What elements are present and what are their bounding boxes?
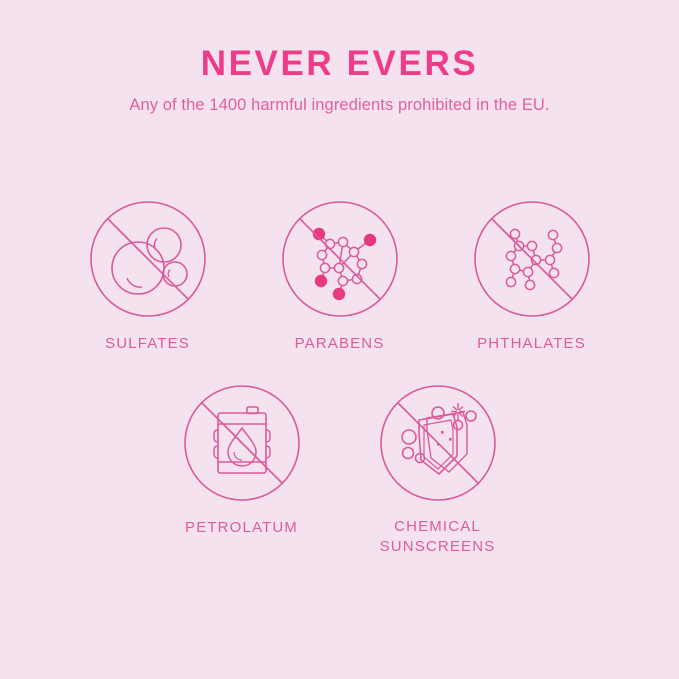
badge-label: PETROLATUM — [185, 518, 298, 538]
badge-label: PARABENS — [295, 334, 385, 354]
no-sulfates-bubbles-icon — [85, 196, 211, 322]
page-subtitle: Any of the 1400 harmful ingredients proh… — [0, 94, 679, 116]
badge-parabens: PARABENS — [277, 196, 403, 354]
no-petrolatum-barrel-icon — [179, 380, 305, 506]
badge-grid: SULFATES — [0, 196, 679, 557]
page-title: NEVER EVERS — [0, 42, 679, 86]
badge-row-1: SULFATES — [0, 196, 679, 354]
never-evers-infographic: NEVER EVERS Any of the 1400 harmful ingr… — [0, 0, 679, 679]
no-chemical-sunscreen-shield-icon — [375, 380, 501, 506]
badge-label: PHTHALATES — [477, 334, 586, 354]
badge-phthalates: PHTHALATES — [469, 196, 595, 354]
badge-petrolatum: PETROLATUM — [179, 380, 305, 538]
badge-sulfates: SULFATES — [85, 196, 211, 354]
badge-label: SULFATES — [105, 334, 190, 354]
header: NEVER EVERS Any of the 1400 harmful ingr… — [0, 42, 679, 116]
badge-row-2: PETROLATUM — [0, 380, 679, 557]
badge-label: CHEMICAL SUNSCREENS — [380, 517, 496, 557]
badge-chemical-sunscreens: CHEMICAL SUNSCREENS — [375, 380, 501, 557]
no-parabens-molecule-icon — [277, 196, 403, 322]
no-phthalates-molecule-icon — [469, 196, 595, 322]
